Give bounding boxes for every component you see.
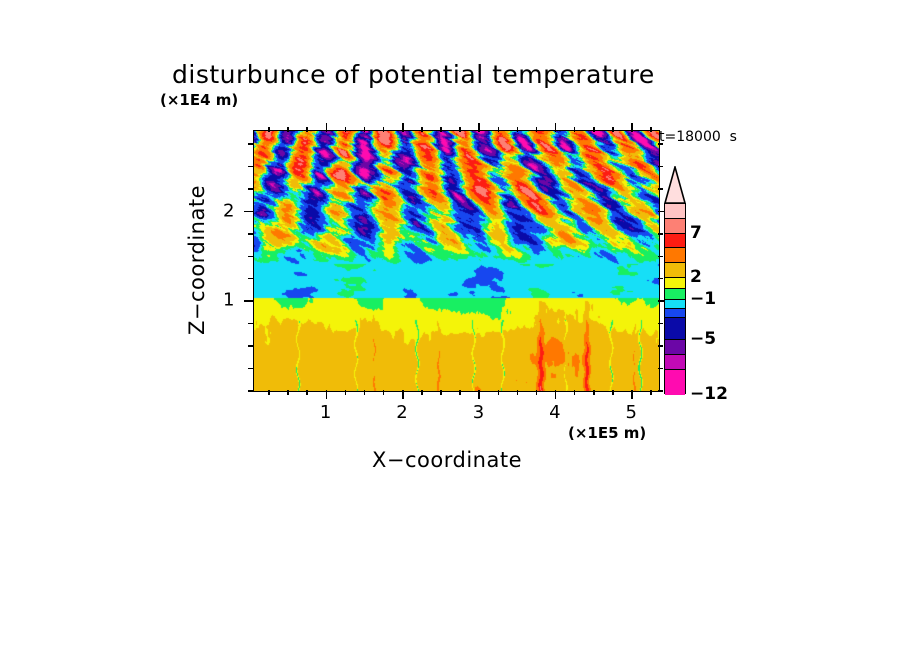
colorbar-band	[665, 234, 685, 249]
x-tick-label: 2	[396, 402, 407, 423]
y-minor-tick-right	[658, 390, 663, 392]
y-minor-tick	[248, 278, 253, 280]
y-minor-tick-right	[658, 345, 663, 347]
colorbar-band	[665, 278, 685, 289]
x-minor-tick	[440, 390, 442, 395]
x-minor-tick	[536, 390, 538, 395]
figure-canvas: disturbunce of potential temperature (×1…	[0, 0, 904, 654]
colorbar-tick-label: −12	[690, 384, 728, 404]
colorbar-band	[665, 318, 685, 340]
x-minor-tick-top	[421, 127, 423, 132]
x-minor-tick	[345, 390, 347, 395]
x-major-tick-top	[402, 123, 404, 132]
y-major-tick	[244, 211, 253, 213]
colorbar-band	[665, 248, 685, 263]
x-major-tick	[402, 390, 404, 399]
x-minor-tick-top	[498, 127, 500, 132]
y-minor-tick-right	[658, 143, 663, 145]
y-minor-tick	[248, 256, 253, 258]
x-minor-tick	[364, 390, 366, 395]
x-minor-tick	[498, 390, 500, 395]
x-minor-tick	[593, 390, 595, 395]
x-tick-label: 3	[473, 402, 484, 423]
x-tick-label: 4	[549, 402, 560, 423]
x-minor-tick	[421, 390, 423, 395]
y-minor-tick	[248, 188, 253, 190]
x-major-tick-top	[631, 123, 633, 132]
y-minor-tick-right	[658, 233, 663, 235]
colorbar-band	[665, 370, 685, 395]
x-major-tick	[478, 390, 480, 399]
x-minor-tick	[287, 390, 289, 395]
y-axis-title: Z−coordinate	[185, 185, 209, 335]
x-minor-tick-top	[345, 127, 347, 132]
y-minor-tick	[248, 345, 253, 347]
temperature-disturbance-heatmap	[254, 131, 659, 391]
y-major-tick	[244, 300, 253, 302]
y-minor-tick-right	[658, 166, 663, 168]
y-minor-tick	[248, 143, 253, 145]
plot-area	[253, 130, 660, 392]
x-minor-tick	[574, 390, 576, 395]
colorbar-band	[665, 204, 685, 219]
y-minor-tick	[248, 368, 253, 370]
x-major-tick	[326, 390, 328, 399]
colorbar-band	[665, 300, 685, 309]
x-minor-tick	[517, 390, 519, 395]
y-minor-tick-right	[658, 278, 663, 280]
x-minor-tick-top	[268, 127, 270, 132]
colorbar-tick-label: 7	[690, 223, 702, 243]
x-minor-tick-top	[650, 127, 652, 132]
x-major-tick-top	[555, 123, 557, 132]
y-minor-tick-right	[658, 188, 663, 190]
x-minor-tick-top	[574, 127, 576, 132]
timestamp-annotation: t=18000 s	[659, 129, 737, 145]
x-minor-tick-top	[612, 127, 614, 132]
colorbar-band	[665, 355, 685, 370]
x-minor-tick	[612, 390, 614, 395]
x-tick-label: 1	[320, 402, 331, 423]
y-minor-tick-right	[658, 323, 663, 325]
x-unit-annotation: (×1E5 m)	[568, 424, 646, 442]
colorbar-arrow-icon	[664, 166, 686, 204]
chart-title: disturbunce of potential temperature	[172, 60, 655, 89]
y-minor-tick	[248, 166, 253, 168]
colorbar	[664, 166, 686, 394]
x-minor-tick	[383, 390, 385, 395]
y-minor-tick-right	[658, 368, 663, 370]
colorbar-bands	[664, 203, 686, 394]
x-minor-tick-top	[593, 127, 595, 132]
y-minor-tick	[248, 390, 253, 392]
y-minor-tick	[248, 233, 253, 235]
colorbar-tick-label: −1	[690, 289, 716, 309]
y-minor-tick-right	[658, 256, 663, 258]
x-minor-tick-top	[440, 127, 442, 132]
x-axis-title: X−coordinate	[372, 448, 522, 472]
x-major-tick-top	[326, 123, 328, 132]
colorbar-band	[665, 263, 685, 278]
y-unit-annotation: (×1E4 m)	[160, 91, 238, 109]
x-minor-tick	[268, 390, 270, 395]
x-minor-tick-top	[287, 127, 289, 132]
x-minor-tick-top	[459, 127, 461, 132]
colorbar-tick-label: −5	[690, 329, 716, 349]
x-major-tick-top	[478, 123, 480, 132]
y-tick-label: 2	[223, 200, 234, 221]
x-minor-tick-top	[306, 127, 308, 132]
x-tick-label: 5	[626, 402, 637, 423]
colorbar-band	[665, 340, 685, 355]
x-major-tick	[555, 390, 557, 399]
x-minor-tick-top	[536, 127, 538, 132]
y-minor-tick	[248, 323, 253, 325]
colorbar-band	[665, 289, 685, 300]
x-minor-tick	[650, 390, 652, 395]
x-minor-tick	[459, 390, 461, 395]
x-minor-tick-top	[517, 127, 519, 132]
colorbar-band	[665, 219, 685, 234]
x-minor-tick-top	[383, 127, 385, 132]
x-minor-tick-top	[364, 127, 366, 132]
x-minor-tick	[306, 390, 308, 395]
y-tick-label: 1	[223, 290, 234, 311]
x-major-tick	[631, 390, 633, 399]
colorbar-tick-label: 2	[690, 267, 702, 287]
colorbar-band	[665, 309, 685, 318]
